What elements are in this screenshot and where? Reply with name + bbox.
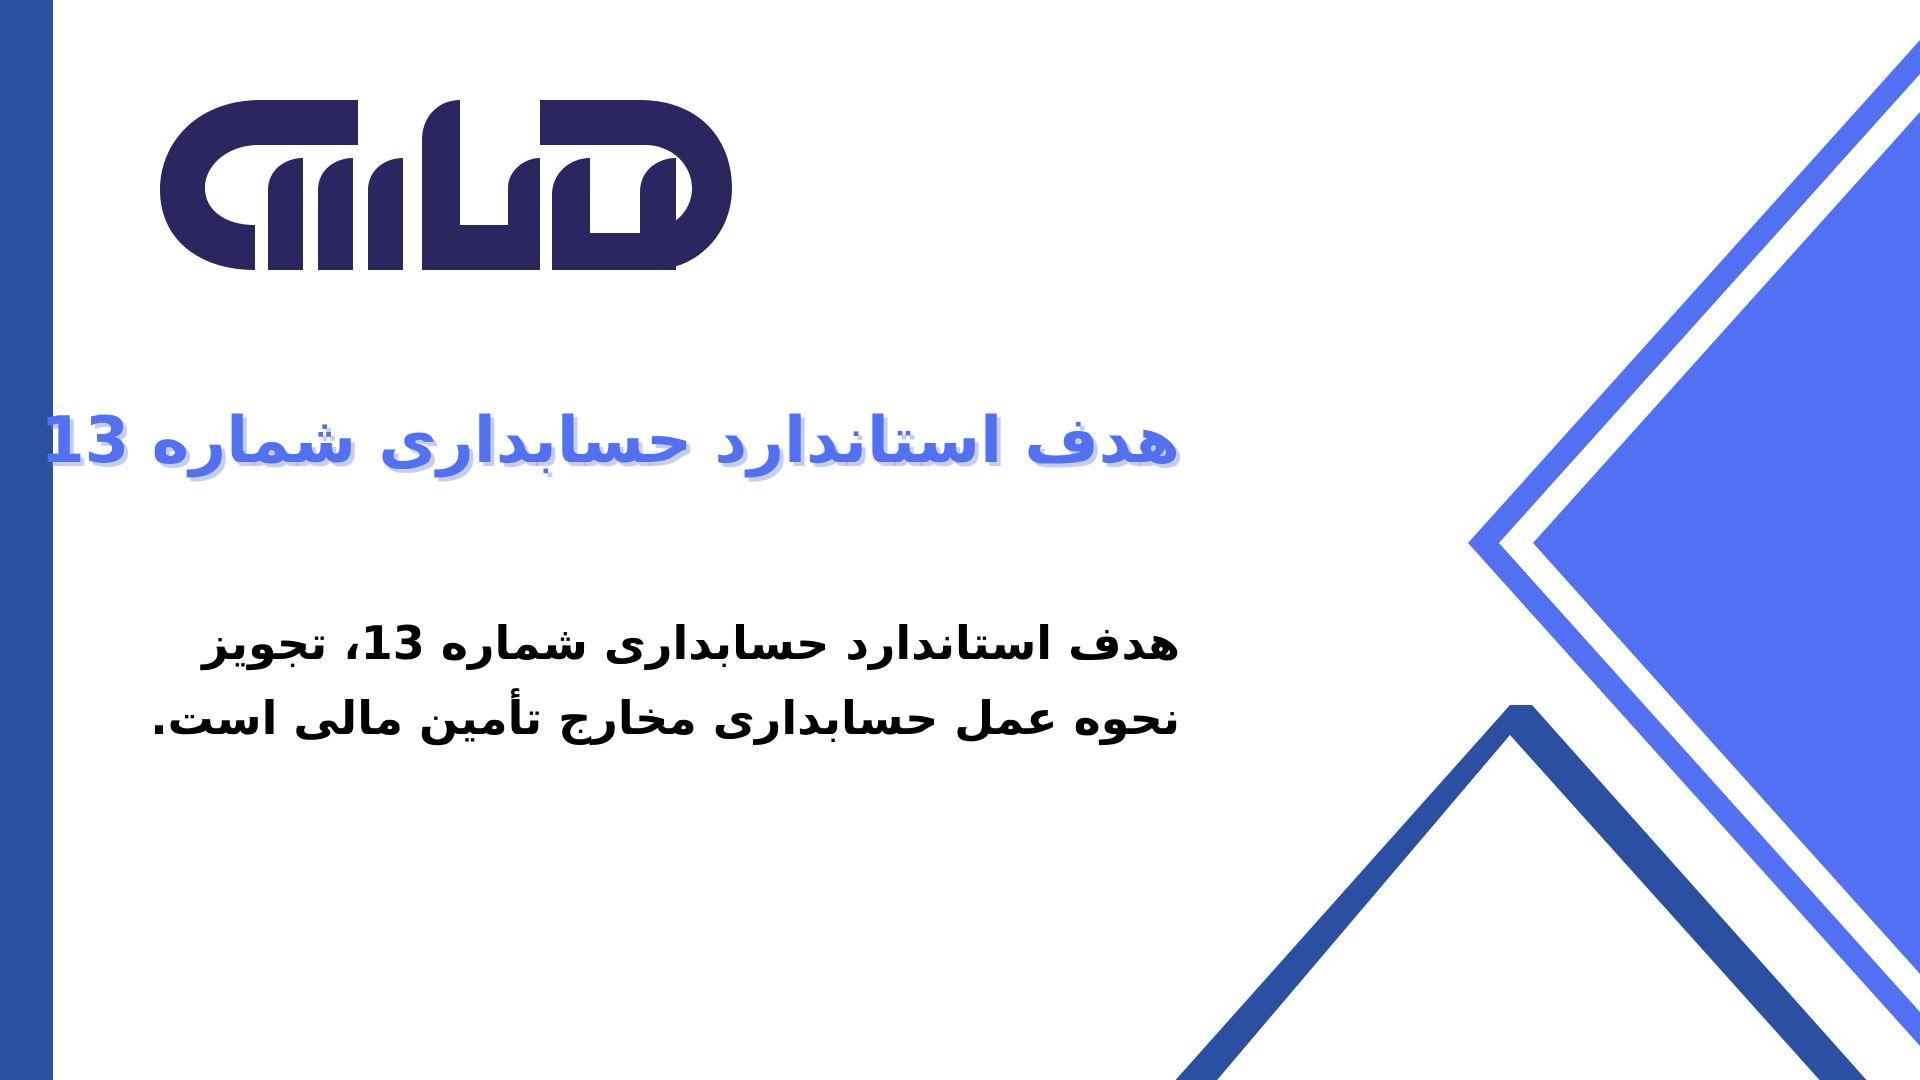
diamond-chevron-light-fill [1468,40,1920,1046]
slide-body-paragraph: هدف استاندارد حسابداری شماره 13، تجویز ن… [110,606,1180,755]
logo-glyph-tooth-1 [268,158,303,270]
left-accent-bar [0,0,53,1080]
logo[interactable] [140,70,740,270]
logo-glyph-tooth-2 [318,158,353,270]
slide-root: هدف استاندارد حسابداری شماره 13 هدف استا… [0,0,1920,1080]
logo-glyph-tooth-3 [368,158,403,270]
chevron-outline-dark [1122,705,1920,1080]
slide-title: هدف استاندارد حسابداری شماره 13 [120,405,1180,479]
logo-svg [140,70,740,270]
diamond-chevron-white-gap [1499,74,1920,1012]
logo-glyph-dal-2 [552,158,652,270]
logo-wordmark-glyphs [160,100,732,270]
